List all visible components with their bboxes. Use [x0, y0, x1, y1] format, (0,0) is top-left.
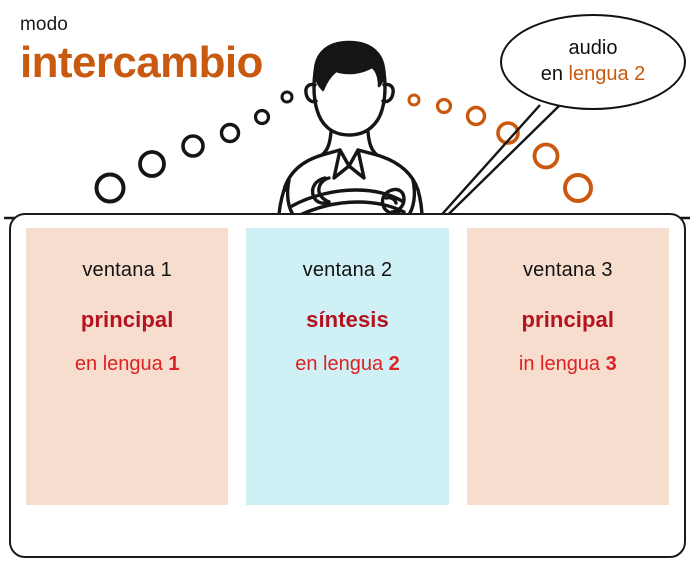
window-language-number-2: 2	[389, 353, 400, 375]
bubble-line-language: en lengua 2	[541, 62, 646, 88]
bubble-line2-prefix: en	[541, 63, 569, 85]
window-language-1: en lengua 1	[26, 353, 228, 376]
window-language-number-3: 3	[606, 353, 617, 375]
window-role-1: principal	[26, 307, 228, 333]
window-language-2: en lengua 2	[246, 353, 448, 376]
page-title: intercambio	[20, 38, 350, 87]
window-language-prefix-3: in lengua	[519, 353, 606, 375]
window-language-number-1: 1	[168, 353, 179, 375]
window-role-2: síntesis	[246, 307, 448, 333]
speech-bubble: audio en lengua 2	[500, 14, 686, 110]
window-column-1[interactable]: ventana 1 principal en lengua 1	[26, 228, 228, 505]
window-label-1: ventana 1	[26, 259, 228, 282]
bubble-line-audio: audio	[569, 36, 618, 62]
window-language-prefix-2: en lengua	[295, 353, 388, 375]
diagram-canvas: modo intercambio	[0, 0, 695, 571]
window-label-2: ventana 2	[246, 259, 448, 282]
header-block: modo intercambio	[20, 14, 350, 87]
window-column-2[interactable]: ventana 2 síntesis en lengua 2	[246, 228, 448, 505]
thought-circles-right	[409, 95, 591, 201]
speech-bubble-tail-icon	[410, 104, 561, 220]
window-column-3[interactable]: ventana 3 principal in lengua 3	[467, 228, 669, 505]
bubble-line2-accent: lengua 2	[569, 63, 646, 85]
eyebrow-label: modo	[20, 14, 350, 36]
windows-columns: ventana 1 principal en lengua 1 ventana …	[11, 215, 684, 505]
window-language-prefix-1: en lengua	[75, 353, 168, 375]
window-label-3: ventana 3	[467, 259, 669, 282]
thought-circles-left	[97, 92, 293, 202]
window-role-3: principal	[467, 307, 669, 333]
window-language-3: in lengua 3	[467, 353, 669, 376]
windows-panel: ventana 1 principal en lengua 1 ventana …	[9, 213, 686, 558]
